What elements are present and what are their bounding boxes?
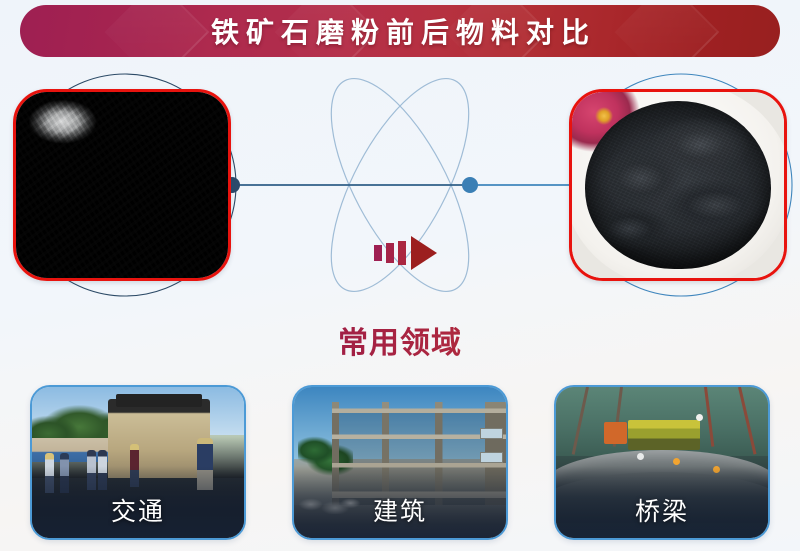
worker-helmet: [637, 453, 644, 460]
title-banner: 铁矿石磨粉前后物料对比: [20, 5, 780, 57]
iron-ore-rocks-texture: [16, 92, 228, 278]
section-heading: 常用领域: [0, 318, 800, 362]
card-caption: 桥梁: [556, 492, 768, 528]
comparison-stage: [0, 60, 800, 310]
arrow-bar-2: [386, 243, 394, 263]
before-photo-image: [16, 92, 228, 278]
application-card-construction[interactable]: 建筑: [292, 385, 508, 540]
application-card-transportation[interactable]: 交通: [30, 385, 246, 540]
construction-rig: [628, 420, 700, 450]
before-photo-card: [13, 89, 231, 281]
after-photo-image: [572, 92, 784, 278]
arrow-bar-1: [374, 245, 382, 261]
after-photo-card: [569, 89, 787, 281]
powder-heap: [585, 101, 772, 268]
card-caption: 建筑: [294, 492, 506, 528]
arrow-bar-3: [398, 241, 406, 265]
application-card-bridge[interactable]: 桥梁: [554, 385, 770, 540]
process-arrow-icon: [374, 236, 437, 270]
window-decor: [480, 452, 503, 463]
arrow-head-triangle: [411, 236, 437, 270]
iron-ore-powder-texture: [572, 92, 784, 278]
window-decor: [480, 428, 503, 439]
node-dot-right: [462, 177, 478, 193]
application-cards: 交通 建筑: [0, 385, 800, 545]
worker-helmet: [673, 458, 680, 465]
page-title: 铁矿石磨粉前后物料对比: [20, 5, 780, 57]
card-caption: 交通: [32, 492, 244, 528]
poster-root: 铁矿石磨粉前后物料对比: [0, 0, 800, 551]
